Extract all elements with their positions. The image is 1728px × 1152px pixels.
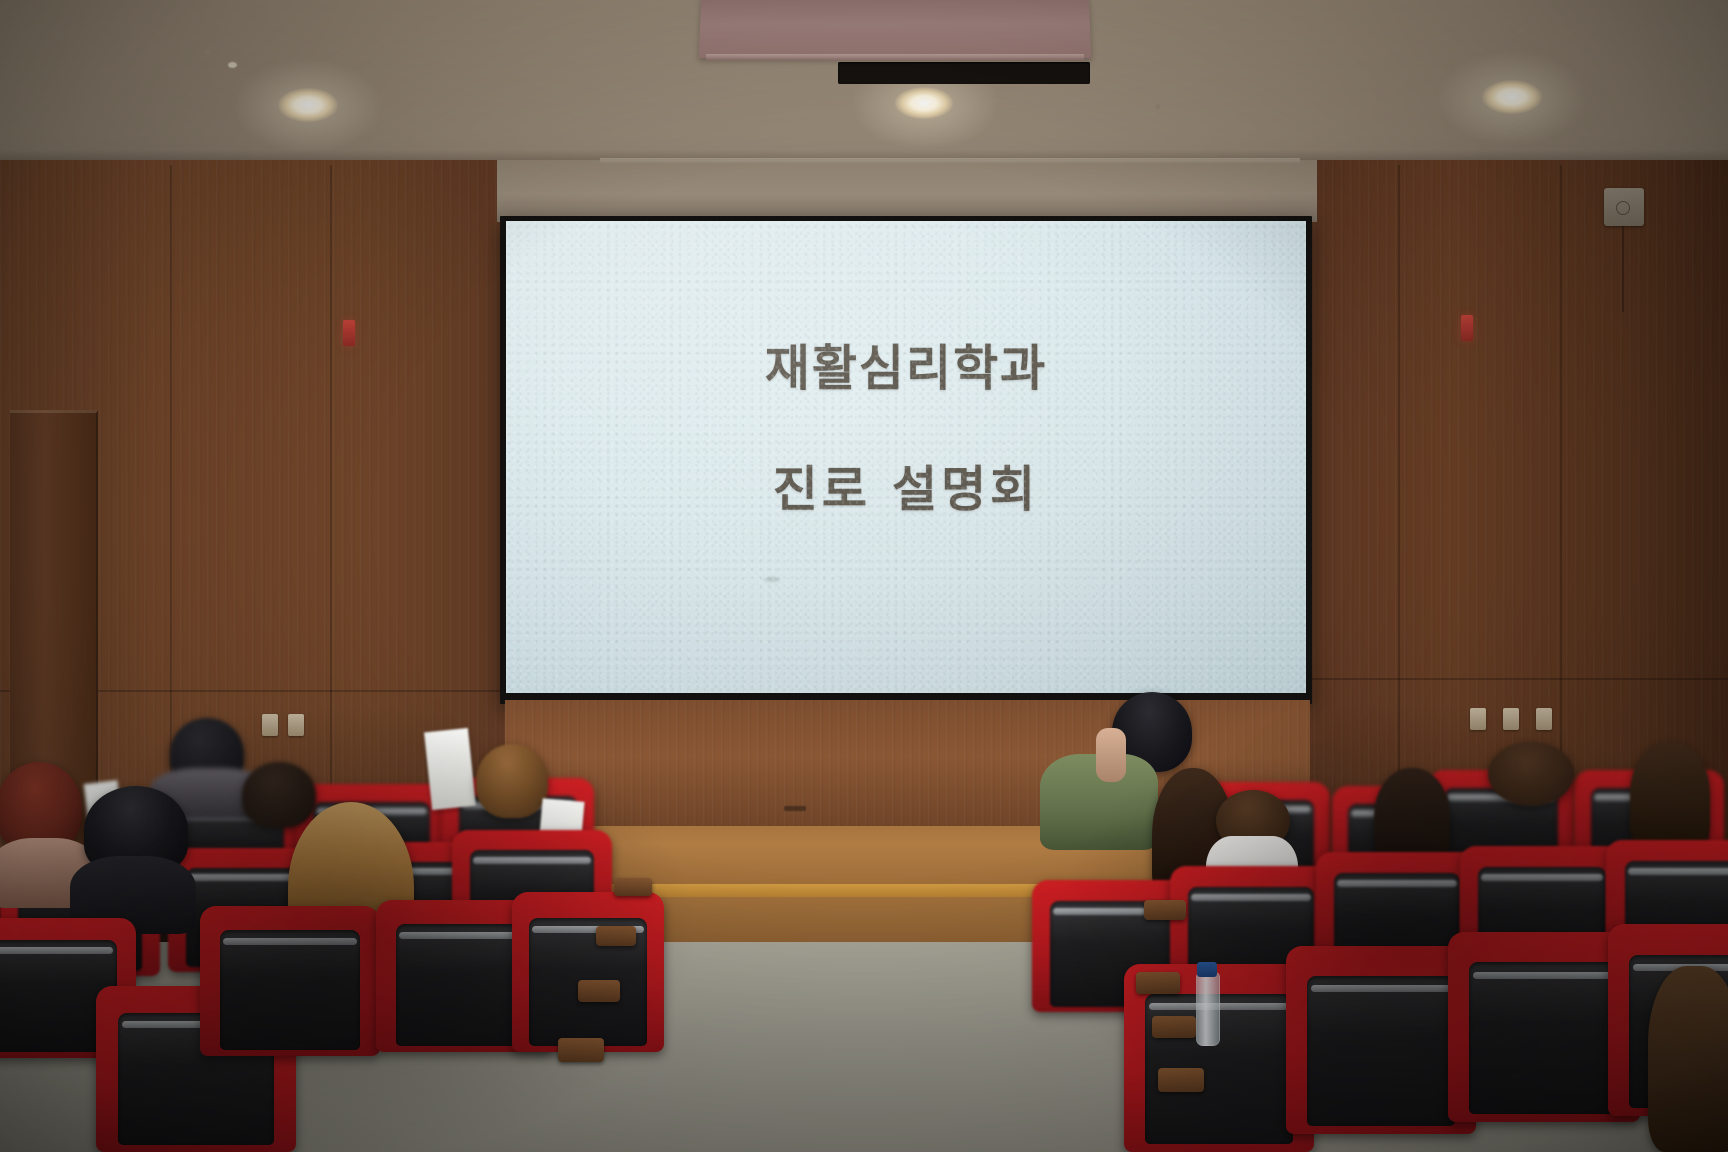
upper-band-trim: [600, 158, 1300, 164]
wall-plate-right-icon[interactable]: [1604, 188, 1644, 226]
slide-title-line2: 진로 설명회: [773, 450, 1039, 521]
tablet-arm[interactable]: [1158, 1068, 1204, 1092]
wall-chair-rail-right: [1310, 678, 1728, 680]
ceiling-soffit-panel: [699, 0, 1092, 58]
person-green-shirt-arm: [1096, 728, 1126, 782]
seat-bar: [223, 938, 356, 945]
seat-bar: [1311, 985, 1452, 992]
wall-outlet[interactable]: [1470, 708, 1486, 730]
tablet-arm[interactable]: [1136, 972, 1180, 994]
emergency-light-right-icon: [1461, 315, 1473, 341]
wall-upper-band: [497, 160, 1317, 222]
soffit-edge-trim: [706, 54, 1084, 61]
auditorium-photo: 재활심리학과 진로 설명회: [0, 0, 1728, 1152]
seat-bar: [0, 947, 113, 954]
seat[interactable]: [512, 892, 664, 1052]
projector-slot: [838, 62, 1090, 84]
ceiling-speck: [228, 62, 237, 68]
seat-bar: [1473, 972, 1615, 979]
stage-floor-mark: [784, 806, 806, 811]
wall-seam: [330, 165, 332, 865]
wall-outlet[interactable]: [1503, 708, 1519, 730]
person-long-dark-hair: [1630, 742, 1710, 854]
wall-outlet[interactable]: [1536, 708, 1552, 730]
projection-screen-frame: 재활심리학과 진로 설명회: [500, 216, 1312, 704]
seat-bar: [1337, 880, 1457, 887]
seat-bar: [473, 857, 591, 864]
tablet-arm[interactable]: [558, 1038, 604, 1062]
slide-title-line1: 재활심리학과: [765, 329, 1047, 400]
tablet-arm[interactable]: [578, 980, 620, 1002]
seat-pad: [220, 930, 360, 1050]
seat-bar: [1481, 874, 1602, 881]
wall-conduit: [1622, 226, 1624, 312]
recessed-downlight-left-icon: [278, 88, 338, 122]
person-long-dark-hair: [1648, 966, 1728, 1152]
seat-bar: [1191, 894, 1311, 901]
person-dark-hair-back: [242, 762, 316, 828]
tablet-arm[interactable]: [1152, 1016, 1196, 1038]
recessed-downlight-right-icon: [1482, 80, 1542, 114]
tablet-arm[interactable]: [1144, 900, 1186, 920]
person-holding-papers: [476, 744, 548, 818]
recessed-downlight-center-icon: [895, 87, 953, 119]
seat[interactable]: [200, 906, 380, 1056]
seat-pad: [1307, 976, 1455, 1126]
water-bottle-cap: [1197, 962, 1217, 977]
tablet-arm[interactable]: [614, 878, 652, 896]
seat-bar: [1628, 868, 1728, 875]
emergency-light-left-icon: [343, 320, 355, 346]
person-hair-bun: [1488, 742, 1574, 806]
wall-outlet[interactable]: [262, 714, 278, 736]
white-handout-paper: [424, 728, 476, 810]
water-bottle[interactable]: [1196, 972, 1220, 1046]
projection-screen: 재활심리학과 진로 설명회: [506, 221, 1306, 693]
wall-outlet[interactable]: [288, 714, 304, 736]
tablet-arm[interactable]: [596, 926, 636, 946]
slide-content: 재활심리학과 진로 설명회: [506, 221, 1306, 693]
seat-pad: [1469, 962, 1619, 1114]
screen-smudge: [764, 577, 780, 582]
